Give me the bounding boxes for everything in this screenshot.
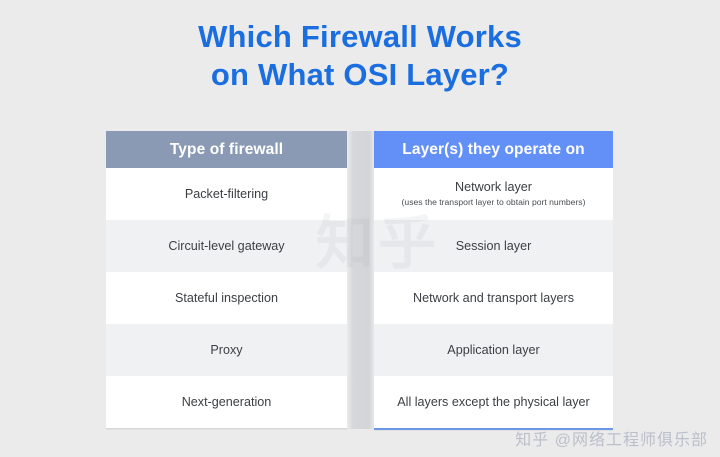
infographic-page: Which Firewall Works on What OSI Layer? … bbox=[0, 0, 720, 457]
osi-layer-table: Layer(s) they operate on Network layer (… bbox=[374, 131, 613, 430]
cell-text: Network layer bbox=[455, 180, 532, 195]
cell-text: Network and transport layers bbox=[413, 291, 574, 306]
gutter-shadow-band bbox=[347, 131, 375, 429]
cell-text: Next-generation bbox=[182, 395, 272, 410]
osi-layer-table-body: Network layer (uses the transport layer … bbox=[374, 168, 613, 430]
cell-text: Application layer bbox=[447, 343, 539, 358]
table-row: Session layer bbox=[374, 220, 613, 272]
osi-layer-table-header: Layer(s) they operate on bbox=[374, 131, 613, 168]
page-title-line-2: on What OSI Layer? bbox=[0, 56, 720, 94]
cell-text: Circuit-level gateway bbox=[168, 239, 284, 254]
cell-text: Session layer bbox=[456, 239, 532, 254]
cell-text: Proxy bbox=[210, 343, 242, 358]
cell-subtext: (uses the transport layer to obtain port… bbox=[402, 196, 586, 208]
table-row: Circuit-level gateway bbox=[106, 220, 347, 272]
table-row: Network layer (uses the transport layer … bbox=[374, 168, 613, 220]
page-title-line-1: Which Firewall Works bbox=[0, 18, 720, 56]
firewall-type-table-header: Type of firewall bbox=[106, 131, 347, 168]
page-title: Which Firewall Works on What OSI Layer? bbox=[0, 18, 720, 94]
table-row: Network and transport layers bbox=[374, 272, 613, 324]
table-row: Application layer bbox=[374, 324, 613, 376]
table-row: Next-generation bbox=[106, 376, 347, 428]
table-row: All layers except the physical layer bbox=[374, 376, 613, 428]
firewall-type-table-body: Packet-filtering Circuit-level gateway S… bbox=[106, 168, 347, 429]
table-row: Proxy bbox=[106, 324, 347, 376]
cell-text: All layers except the physical layer bbox=[397, 395, 590, 410]
firewall-type-table: Type of firewall Packet-filtering Circui… bbox=[106, 131, 347, 429]
cell-text: Packet-filtering bbox=[185, 187, 268, 202]
table-row: Packet-filtering bbox=[106, 168, 347, 220]
table-row: Stateful inspection bbox=[106, 272, 347, 324]
cell-text: Stateful inspection bbox=[175, 291, 278, 306]
